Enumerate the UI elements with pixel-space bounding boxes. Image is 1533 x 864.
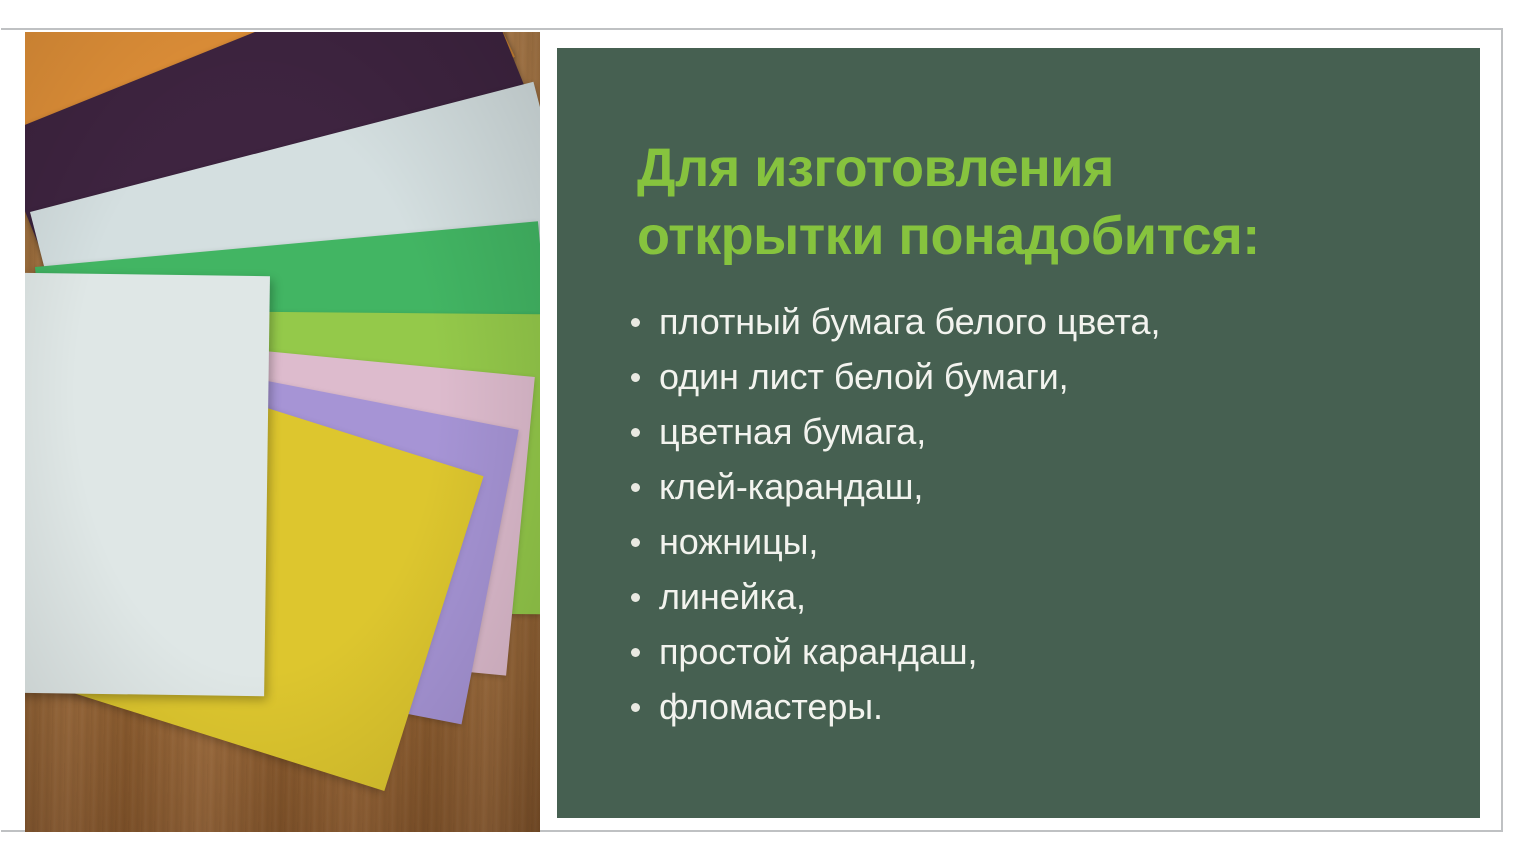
list-item-label: плотный бумага белого цвета, <box>659 301 1160 342</box>
bullet-dot-icon <box>631 648 640 657</box>
bullet-dot-icon <box>631 538 640 547</box>
bullet-dot-icon <box>631 428 640 437</box>
bullet-dot-icon <box>631 318 640 327</box>
list-item-label: линейка, <box>659 576 806 617</box>
paper-sheets-photo <box>25 32 540 832</box>
slide-title: Для изготовления открытки понадобится: <box>637 134 1427 270</box>
list-item-label: цветная бумага, <box>659 411 926 452</box>
materials-list: плотный бумага белого цвета, один лист б… <box>629 294 1459 734</box>
slide-title-line-1: Для изготовления <box>637 138 1114 198</box>
list-item: простой карандаш, <box>629 624 1459 679</box>
list-item-label: один лист белой бумаги, <box>659 356 1069 397</box>
list-item-label: фломастеры. <box>659 686 883 727</box>
content-panel: Для изготовления открытки понадобится: п… <box>557 48 1480 818</box>
list-item-label: ножницы, <box>659 521 818 562</box>
bullet-dot-icon <box>631 593 640 602</box>
list-item: линейка, <box>629 569 1459 624</box>
list-item: цветная бумага, <box>629 404 1459 459</box>
list-item: плотный бумага белого цвета, <box>629 294 1459 349</box>
list-item: клей-карандаш, <box>629 459 1459 514</box>
bullet-dot-icon <box>631 703 640 712</box>
slide: Для изготовления открытки понадобится: п… <box>0 0 1533 864</box>
list-item: ножницы, <box>629 514 1459 569</box>
list-item: фломастеры. <box>629 679 1459 734</box>
list-item-label: клей-карандаш, <box>659 466 923 507</box>
list-item: один лист белой бумаги, <box>629 349 1459 404</box>
list-item-label: простой карандаш, <box>659 631 977 672</box>
slide-title-line-2: открытки понадобится: <box>637 206 1260 266</box>
photo-vignette <box>25 32 540 832</box>
bullet-dot-icon <box>631 373 640 382</box>
bullet-dot-icon <box>631 483 640 492</box>
